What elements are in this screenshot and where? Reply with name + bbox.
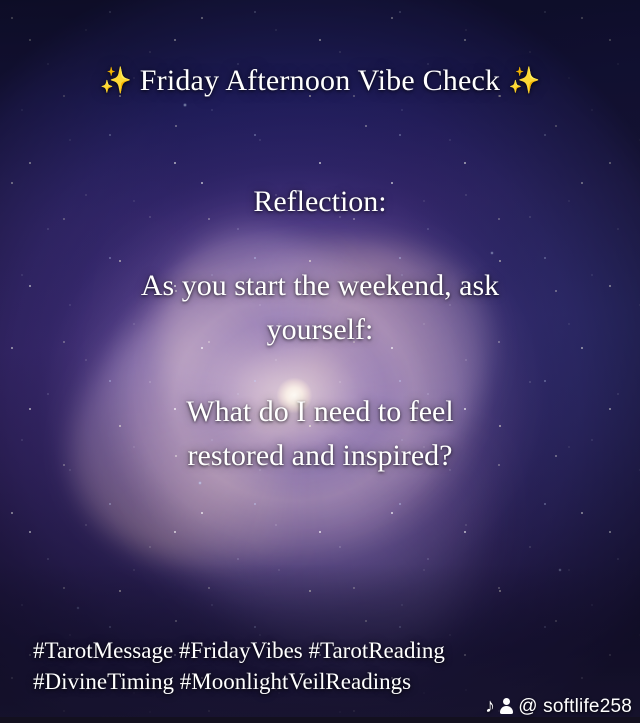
music-note-icon: ♪ (485, 696, 495, 716)
spacer-one (50, 224, 590, 264)
reflection-block: Reflection: As you start the weekend, as… (50, 180, 590, 478)
prompt-line-2: yourself: (50, 308, 590, 352)
prompt-line-1: As you start the weekend, ask (50, 264, 590, 308)
question-line-2: restored and inspired? (50, 434, 590, 478)
hashtag-line-1: #TarotMessage #FridayVibes #TarotReading (33, 635, 445, 666)
sparkles-icon-right: ✨ (508, 66, 541, 95)
post-content: ✨ Friday Afternoon Vibe Check ✨ Reflecti… (0, 0, 640, 723)
hashtag-block: #TarotMessage #FridayVibes #TarotReading… (33, 635, 445, 697)
tarot-vibe-check-post: ✨ Friday Afternoon Vibe Check ✨ Reflecti… (0, 0, 640, 723)
reflection-heading: Reflection: (50, 180, 590, 224)
tiktok-watermark: ♪ @ softlife258 (485, 696, 632, 718)
spacer-two (50, 352, 590, 390)
sparkles-icon-left: ✨ (99, 66, 132, 95)
hashtag-line-2: #DivineTiming #MoonlightVeilReadings (33, 666, 445, 697)
account-handle: @ softlife258 (518, 696, 632, 718)
question-line-1: What do I need to feel (50, 390, 590, 434)
user-silhouette-icon (499, 698, 514, 715)
post-title: ✨ Friday Afternoon Vibe Check ✨ (0, 62, 640, 100)
post-title-text: Friday Afternoon Vibe Check (140, 64, 500, 97)
